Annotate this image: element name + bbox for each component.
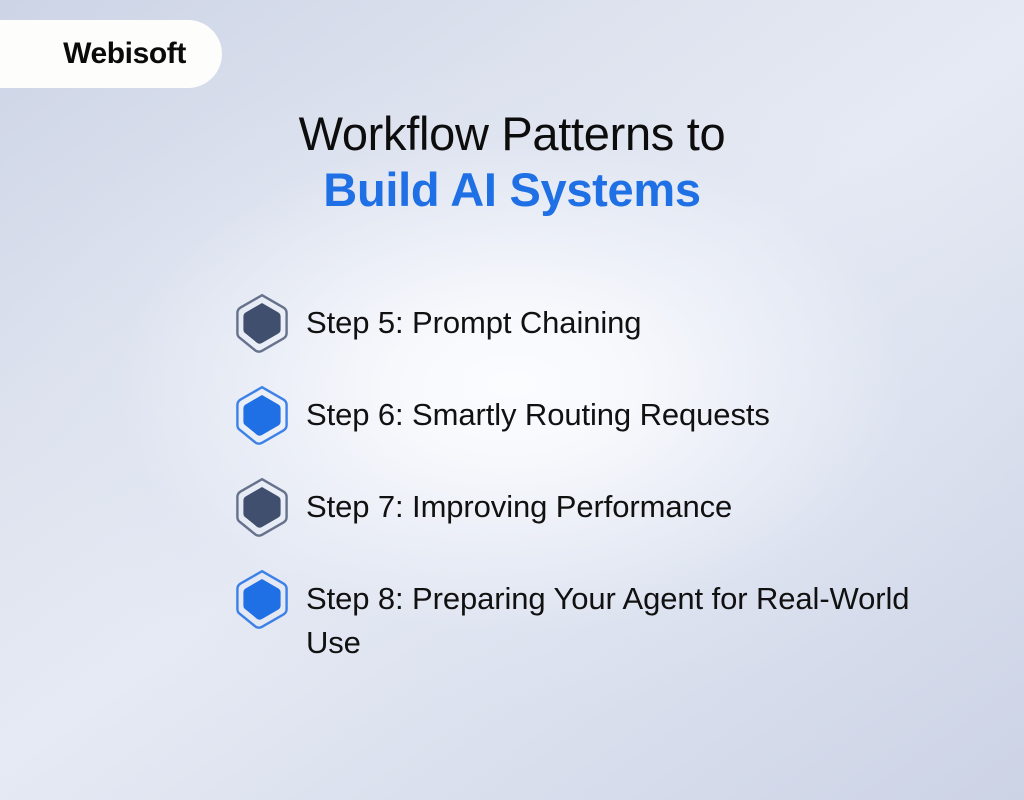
hexagon-icon [234,384,290,446]
list-item: Step 6: Smartly Routing Requests [234,384,974,446]
list-item: Step 8: Preparing Your Agent for Real-Wo… [234,568,974,665]
title-line-highlight: Build AI Systems [0,161,1024,220]
list-item-label: Step 8: Preparing Your Agent for Real-Wo… [306,568,966,665]
list-item-label: Step 5: Prompt Chaining [306,292,641,345]
list-item: Step 5: Prompt Chaining [234,292,974,354]
list-item-label: Step 6: Smartly Routing Requests [306,384,770,437]
hexagon-icon [234,292,290,354]
brand-logo-badge: Webisoft [0,20,222,88]
brand-name: Webisoft [63,39,186,69]
list-item: Step 7: Improving Performance [234,476,974,538]
steps-list: Step 5: Prompt Chaining Step 6: Smartly … [234,292,974,665]
hexagon-icon [234,476,290,538]
slide-canvas: Webisoft Workflow Patterns to Build AI S… [0,0,1024,800]
hexagon-icon [234,568,290,630]
page-title: Workflow Patterns to Build AI Systems [0,108,1024,219]
title-line-primary: Workflow Patterns to [0,108,1024,161]
list-item-label: Step 7: Improving Performance [306,476,732,529]
